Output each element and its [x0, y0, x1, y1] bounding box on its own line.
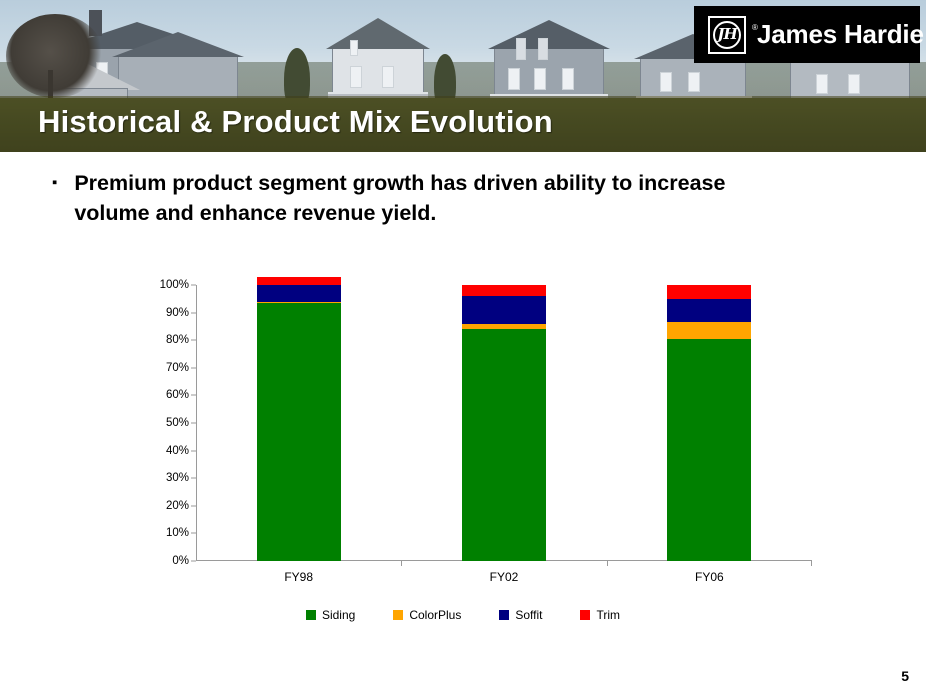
window-icon: [516, 38, 526, 60]
window-icon: [534, 68, 546, 90]
bar-segment-colorplus[interactable]: [667, 322, 751, 339]
y-axis-tick-mark: [191, 561, 196, 562]
y-axis-tick-mark: [191, 423, 196, 424]
bar-segment-colorplus[interactable]: [462, 324, 546, 330]
window-icon: [816, 74, 828, 94]
bar-segment-siding[interactable]: [257, 303, 341, 561]
y-axis-tick-label: 70%: [166, 362, 189, 374]
stacked-bar[interactable]: [462, 285, 546, 561]
window-icon: [848, 74, 860, 94]
jh-monogram-icon: JH ®: [708, 16, 746, 54]
x-axis-divider: [401, 561, 402, 566]
window-icon: [508, 68, 520, 90]
roof-icon: [488, 20, 610, 49]
x-axis-category-label: FY06: [667, 570, 751, 584]
bullet-list: ▪ Premium product segment growth has dri…: [52, 168, 852, 228]
y-axis-tick-mark: [191, 312, 196, 313]
y-axis-tick-label: 40%: [166, 445, 189, 457]
legend-label: ColorPlus: [409, 608, 461, 622]
stacked-bar-chart: 0%10%20%30%40%50%60%70%80%90%100% FY98FY…: [0, 272, 926, 642]
monogram-circle-icon: JH: [713, 21, 741, 49]
roof-icon: [112, 32, 244, 57]
bar-segment-soffit[interactable]: [667, 299, 751, 322]
x-axis-category-label: FY02: [462, 570, 546, 584]
legend-label: Trim: [596, 608, 620, 622]
y-axis-tick-mark: [191, 533, 196, 534]
window-icon: [538, 38, 548, 60]
y-axis-tick-label: 0%: [172, 555, 189, 567]
bar-segment-siding[interactable]: [462, 329, 546, 561]
y-axis-tick-mark: [191, 395, 196, 396]
legend-label: Siding: [322, 608, 355, 622]
legend-item-soffit[interactable]: Soffit: [499, 608, 542, 622]
y-axis-tick-label: 10%: [166, 527, 189, 539]
y-axis-tick-label: 30%: [166, 472, 189, 484]
y-axis-line: [196, 285, 197, 561]
y-axis-tick-mark: [191, 505, 196, 506]
stacked-bar[interactable]: [257, 285, 341, 561]
bar-segment-trim[interactable]: [257, 277, 341, 285]
monogram-letters: JH: [717, 27, 736, 42]
stacked-bar[interactable]: [667, 285, 751, 561]
roof-icon: [326, 18, 430, 49]
logo-brand-name: James Hardie: [757, 19, 924, 50]
window-icon: [562, 68, 574, 90]
bullet-text: Premium product segment growth has drive…: [74, 168, 764, 228]
bar-group[interactable]: FY06: [667, 285, 751, 561]
x-axis-end-cap: [811, 561, 812, 566]
legend-item-trim[interactable]: Trim: [580, 608, 620, 622]
y-axis-tick-mark: [191, 340, 196, 341]
bar-group[interactable]: FY02: [462, 285, 546, 561]
window-icon: [350, 66, 362, 88]
james-hardie-logo: JH ® James Hardie: [694, 6, 920, 63]
y-axis-tick-label: 80%: [166, 334, 189, 346]
bar-segment-colorplus[interactable]: [257, 302, 341, 303]
y-axis-tick-mark: [191, 450, 196, 451]
chart-plot-area: 0%10%20%30%40%50%60%70%80%90%100% FY98FY…: [196, 285, 812, 561]
window-icon: [382, 66, 394, 88]
y-axis-tick-mark: [191, 285, 196, 286]
bar-segment-soffit[interactable]: [462, 296, 546, 324]
x-axis-divider: [607, 561, 608, 566]
bullet-marker-icon: ▪: [52, 168, 57, 198]
legend-item-siding[interactable]: Siding: [306, 608, 355, 622]
legend-swatch-icon: [580, 610, 590, 620]
legend-swatch-icon: [393, 610, 403, 620]
y-axis-tick-label: 50%: [166, 417, 189, 429]
window-icon: [660, 72, 672, 92]
bar-segment-trim[interactable]: [667, 285, 751, 299]
y-axis-tick-label: 60%: [166, 389, 189, 401]
bar-segment-soffit[interactable]: [257, 285, 341, 302]
bar-group[interactable]: FY98: [257, 285, 341, 561]
legend-swatch-icon: [306, 610, 316, 620]
slide-title: Historical & Product Mix Evolution: [38, 100, 553, 144]
window-icon: [350, 40, 358, 56]
tree-icon: [6, 14, 104, 98]
y-axis-tick-label: 20%: [166, 500, 189, 512]
legend-item-colorplus[interactable]: ColorPlus: [393, 608, 461, 622]
y-axis-tick-label: 90%: [166, 307, 189, 319]
y-axis-tick-mark: [191, 478, 196, 479]
legend-swatch-icon: [499, 610, 509, 620]
y-axis-tick-label: 100%: [160, 279, 189, 291]
x-axis-category-label: FY98: [257, 570, 341, 584]
window-icon: [688, 72, 700, 92]
bar-segment-siding[interactable]: [667, 339, 751, 561]
page-number: 5: [901, 668, 909, 684]
y-axis-tick-mark: [191, 367, 196, 368]
registered-trademark-icon: ®: [752, 24, 758, 32]
legend-label: Soffit: [515, 608, 542, 622]
chart-legend: SidingColorPlusSoffitTrim: [0, 608, 926, 622]
bar-segment-trim[interactable]: [462, 285, 546, 296]
